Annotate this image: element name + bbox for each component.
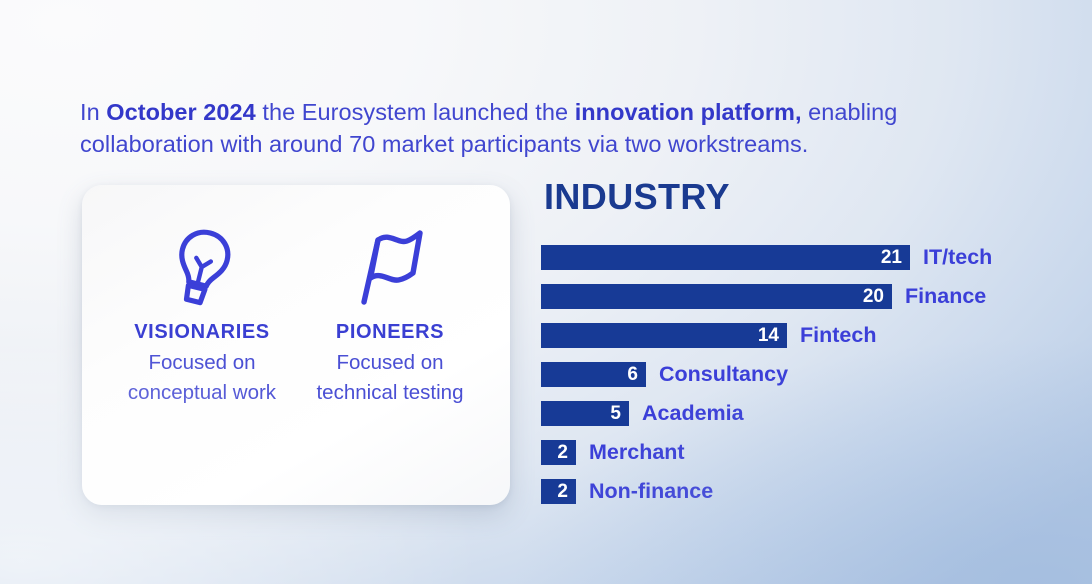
bar-row: 21IT/tech bbox=[541, 238, 1061, 277]
bar-label: Non-finance bbox=[589, 479, 713, 504]
bar-value: 5 bbox=[610, 404, 621, 423]
bar-value: 14 bbox=[758, 326, 779, 345]
bar-label: Finance bbox=[905, 284, 986, 309]
bar-label: IT/tech bbox=[923, 245, 992, 270]
flag-icon bbox=[350, 223, 430, 315]
bar-value: 2 bbox=[557, 443, 568, 462]
bar-row: 14Fintech bbox=[541, 316, 1061, 355]
bar: 14 bbox=[541, 323, 787, 348]
bar-label: Merchant bbox=[589, 440, 685, 465]
workstream-description: Focused on technical testing bbox=[305, 348, 475, 408]
workstream-title: PIONEERS bbox=[336, 321, 444, 344]
bar-label: Consultancy bbox=[659, 362, 788, 387]
bar-label: Fintech bbox=[800, 323, 876, 348]
bar: 2 bbox=[541, 479, 576, 504]
intro-paragraph: In October 2024 the Eurosystem launched … bbox=[80, 96, 1010, 160]
bar-row: 20Finance bbox=[541, 277, 1061, 316]
intro-bold-date: October 2024 bbox=[106, 99, 256, 125]
bar-value: 20 bbox=[863, 287, 884, 306]
bar: 5 bbox=[541, 401, 629, 426]
workstreams-columns: VISIONARIES Focused on conceptual work P… bbox=[82, 185, 510, 505]
bar-row: 2Non-finance bbox=[541, 472, 1061, 511]
bar: 2 bbox=[541, 440, 576, 465]
bar-label: Academia bbox=[642, 401, 744, 426]
bar-row: 6Consultancy bbox=[541, 355, 1061, 394]
bar: 6 bbox=[541, 362, 646, 387]
intro-text-2: the Eurosystem launched the bbox=[256, 99, 575, 125]
bar: 21 bbox=[541, 245, 910, 270]
workstreams-card: VISIONARIES Focused on conceptual work P… bbox=[82, 185, 510, 505]
bar-list: 21IT/tech20Finance14Fintech6Consultancy5… bbox=[541, 238, 1061, 511]
workstream-title: VISIONARIES bbox=[134, 321, 270, 344]
intro-bold-platform: innovation platform, bbox=[575, 99, 802, 125]
bar-value: 6 bbox=[627, 365, 638, 384]
workstream-pioneers: PIONEERS Focused on technical testing bbox=[296, 223, 484, 505]
lightbulb-icon bbox=[166, 223, 238, 315]
infographic-canvas: In October 2024 the Eurosystem launched … bbox=[0, 0, 1092, 584]
workstream-description: Focused on conceptual work bbox=[117, 348, 287, 408]
intro-text-1: In bbox=[80, 99, 106, 125]
bar: 20 bbox=[541, 284, 892, 309]
bar-value: 21 bbox=[881, 248, 902, 267]
bar-row: 5Academia bbox=[541, 394, 1061, 433]
industry-chart: INDUSTRY 21IT/tech20Finance14Fintech6Con… bbox=[541, 176, 1061, 511]
workstream-visionaries: VISIONARIES Focused on conceptual work bbox=[108, 223, 296, 505]
chart-title: INDUSTRY bbox=[544, 176, 1061, 218]
bar-row: 2Merchant bbox=[541, 433, 1061, 472]
bar-value: 2 bbox=[557, 482, 568, 501]
